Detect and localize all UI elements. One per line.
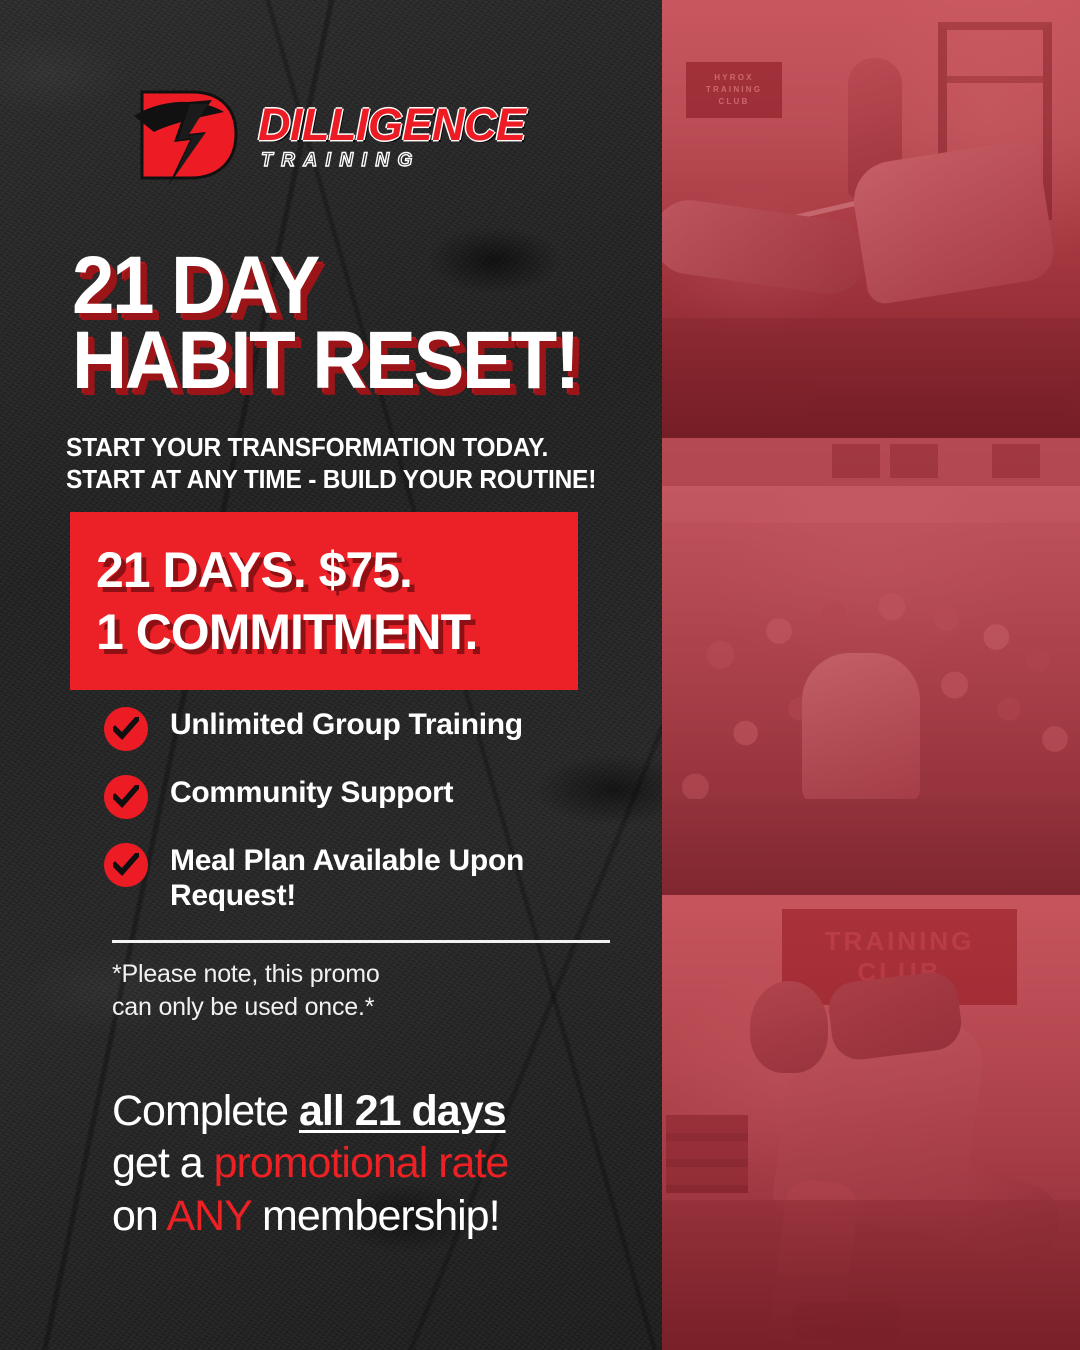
- red-duotone-overlay: [662, 0, 1080, 438]
- benefit-label: Unlimited Group Training: [170, 705, 523, 743]
- callout-highlight-any: ANY: [166, 1192, 251, 1240]
- callout-text-membership: membership!: [251, 1192, 499, 1240]
- brand-tagline: TRAINING: [261, 151, 526, 170]
- subheadline-line-2: START AT ANY TIME - BUILD YOUR ROUTINE!: [66, 464, 642, 496]
- benefit-label: Meal Plan Available Upon Request!: [170, 841, 624, 914]
- check-circle-icon: [104, 775, 148, 819]
- brand-logo: DILLIGENCE TRAINING: [128, 82, 526, 186]
- check-circle-icon: [104, 843, 148, 887]
- bonus-callout: Complete all 21 days get a promotional r…: [112, 1085, 652, 1242]
- callout-text-complete: Complete: [112, 1087, 299, 1135]
- benefits-list: Unlimited Group Training Community Suppo…: [104, 705, 624, 914]
- list-item: Unlimited Group Training: [104, 705, 624, 751]
- headline-line-2: HABIT RESET!: [72, 323, 621, 398]
- list-item: Meal Plan Available Upon Request!: [104, 841, 624, 914]
- offer-line-1: 21 DAYS. $75.: [96, 539, 578, 601]
- photo-column: HYROX TRAINING CLUB TRAIN: [662, 0, 1080, 1350]
- dilligence-d-bolt-logo-icon: [128, 82, 244, 186]
- red-duotone-overlay: [662, 438, 1080, 895]
- subheadline: START YOUR TRANSFORMATION TODAY. START A…: [66, 432, 642, 496]
- group-class-team-photo: [662, 438, 1080, 895]
- content-panel: DILLIGENCE TRAINING 21 DAY HABIT RESET! …: [0, 0, 662, 1350]
- offer-line-2: 1 COMMITMENT.: [96, 601, 578, 663]
- divider: [112, 940, 610, 943]
- subheadline-line-1: START YOUR TRANSFORMATION TODAY.: [66, 432, 642, 464]
- promo-poster: DILLIGENCE TRAINING 21 DAY HABIT RESET! …: [0, 0, 1080, 1350]
- red-duotone-overlay: [662, 895, 1080, 1350]
- disclaimer-line-1: *Please note, this promo: [112, 958, 632, 991]
- check-circle-icon: [104, 707, 148, 751]
- benefit-label: Community Support: [170, 773, 453, 811]
- disclaimer: *Please note, this promo can only be use…: [112, 958, 632, 1023]
- callout-line-3: on ANY membership!: [112, 1190, 652, 1242]
- brand-name: DILLIGENCE: [258, 102, 526, 147]
- callout-emphasis-all-21-days: all 21 days: [299, 1087, 506, 1135]
- gym-rowing-training-photo: HYROX TRAINING CLUB: [662, 0, 1080, 438]
- headline: 21 DAY HABIT RESET!: [72, 248, 621, 399]
- disclaimer-line-2: can only be used once.*: [112, 991, 632, 1024]
- callout-line-1: Complete all 21 days: [112, 1085, 652, 1137]
- callout-text-get-a: get a: [112, 1139, 214, 1187]
- callout-line-2: get a promotional rate: [112, 1137, 652, 1189]
- sandbag-lunge-photo: TRAINING CLUB: [662, 895, 1080, 1350]
- offer-banner: 21 DAYS. $75. 1 COMMITMENT.: [70, 512, 578, 690]
- list-item: Community Support: [104, 773, 624, 819]
- callout-highlight-promotional-rate: promotional rate: [214, 1139, 509, 1187]
- callout-text-on: on: [112, 1192, 166, 1240]
